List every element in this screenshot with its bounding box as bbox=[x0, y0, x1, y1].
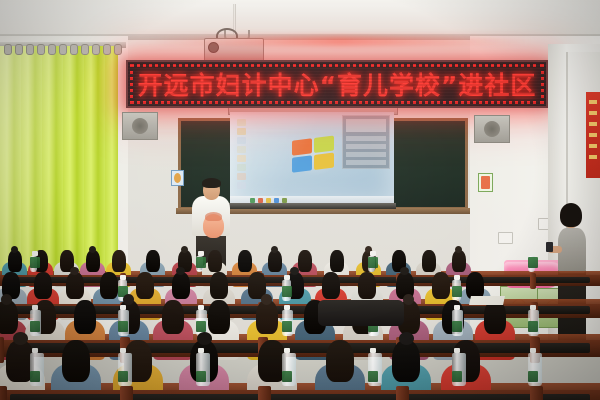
gadget-clock-icon bbox=[346, 119, 386, 132]
bottle-label bbox=[528, 371, 538, 382]
audience-hair bbox=[432, 272, 450, 299]
speaker-right bbox=[474, 115, 510, 143]
audience-hair-bun bbox=[403, 294, 414, 305]
bottle-label bbox=[118, 321, 128, 332]
audience-hair-bun bbox=[13, 332, 28, 345]
banner-ceiling-glow bbox=[150, 36, 530, 46]
bottle-label bbox=[196, 321, 206, 332]
bottle-label bbox=[118, 371, 128, 382]
desktop-icon bbox=[237, 137, 246, 144]
curtain-ring bbox=[103, 44, 111, 55]
desktop-icons bbox=[235, 116, 249, 188]
bottle-label bbox=[30, 321, 40, 332]
desktop-icon bbox=[237, 173, 246, 180]
audience-hair-bun bbox=[70, 267, 79, 275]
audience-hair bbox=[34, 272, 52, 299]
bottle-label bbox=[196, 257, 206, 268]
water-bottle bbox=[368, 353, 382, 386]
water-bottle bbox=[282, 310, 293, 336]
curtain-ring bbox=[59, 44, 67, 55]
curtain-ring bbox=[70, 44, 78, 55]
bottle-cap bbox=[120, 348, 126, 353]
bottle-label bbox=[282, 371, 292, 382]
water-bottle bbox=[118, 353, 132, 386]
water-bottle bbox=[282, 353, 296, 386]
curtain-ring bbox=[15, 44, 23, 55]
bottle-cap bbox=[530, 348, 536, 353]
audience-hair-bun bbox=[261, 294, 272, 305]
desktop-gadget-panel bbox=[342, 115, 390, 169]
bottle-cap bbox=[370, 251, 376, 256]
bottle-label bbox=[452, 321, 462, 332]
audience-hair-bun bbox=[400, 267, 409, 275]
desktop-icon bbox=[237, 119, 246, 126]
bottle-label bbox=[528, 257, 538, 268]
audience-hair-bun bbox=[290, 267, 299, 275]
audience-hair-bun bbox=[399, 332, 414, 345]
water-bottle bbox=[528, 310, 539, 336]
bench-post bbox=[530, 273, 536, 289]
audience-hair-bun bbox=[176, 267, 185, 275]
audience-hair bbox=[112, 250, 126, 272]
audience-hair bbox=[268, 250, 282, 272]
curtain-ring bbox=[37, 44, 45, 55]
bottle-label bbox=[368, 257, 378, 268]
audience-hair bbox=[322, 272, 340, 299]
banner-text: 开远市妇计中心“育儿学校”进社区 bbox=[128, 62, 546, 106]
bench-cushion bbox=[10, 343, 590, 353]
water-bottle bbox=[452, 310, 463, 336]
audience-hair-bun bbox=[11, 246, 18, 253]
bottle-label bbox=[452, 286, 462, 297]
standing-woman-top bbox=[558, 228, 586, 273]
desktop-icon bbox=[237, 128, 246, 135]
water-bottle bbox=[118, 310, 129, 336]
audience-hair bbox=[162, 300, 184, 334]
bottle-cap bbox=[370, 348, 376, 353]
audience-hair bbox=[208, 250, 222, 272]
curtain-backlight bbox=[0, 46, 118, 276]
audience-hair bbox=[452, 250, 466, 272]
windows-logo-icon bbox=[292, 135, 336, 174]
bottle-cap bbox=[198, 348, 204, 353]
speaker-left bbox=[122, 112, 158, 140]
audience-hair bbox=[330, 250, 344, 272]
audience-hair-bun bbox=[89, 246, 96, 253]
standing-woman-hair bbox=[560, 203, 582, 227]
bottle-cap bbox=[198, 251, 204, 256]
bottle-cap bbox=[530, 305, 536, 310]
water-bottle bbox=[196, 353, 210, 386]
bottle-cap bbox=[120, 305, 126, 310]
audience-hair bbox=[86, 250, 100, 272]
audience-hair-bun bbox=[181, 246, 188, 253]
curtain-ring bbox=[26, 44, 34, 55]
water-bottle bbox=[528, 256, 535, 272]
speaker-cone-icon bbox=[484, 121, 500, 137]
bottle-cap bbox=[198, 305, 204, 310]
audience-hair-bun bbox=[271, 246, 278, 253]
bench-cushion bbox=[10, 394, 590, 400]
speaker-cone-icon bbox=[132, 118, 148, 134]
curtain-ring bbox=[81, 44, 89, 55]
audience-hair bbox=[172, 272, 190, 299]
bottle-cap bbox=[32, 305, 38, 310]
bench-post bbox=[258, 386, 271, 400]
audience-hair bbox=[484, 300, 506, 334]
curtain-ring bbox=[4, 44, 12, 55]
led-banner: 开远市妇计中心“育儿学校”进社区 bbox=[126, 60, 548, 108]
water-bottle bbox=[30, 353, 44, 386]
audience-hair bbox=[210, 272, 228, 299]
bench-post bbox=[0, 337, 4, 363]
audience-hair bbox=[326, 340, 354, 382]
audience-hair bbox=[74, 300, 96, 334]
bottle-label bbox=[528, 321, 538, 332]
curtain-ring bbox=[48, 44, 56, 55]
papers bbox=[469, 296, 505, 305]
blue-wall-sign bbox=[171, 170, 184, 186]
bottle-cap bbox=[454, 305, 460, 310]
bottle-cap bbox=[530, 251, 536, 256]
screen-bottom-bar bbox=[228, 203, 396, 209]
bottle-cap bbox=[454, 275, 460, 280]
bottle-label bbox=[368, 371, 378, 382]
audience-hair-bun bbox=[455, 246, 462, 253]
bottle-cap bbox=[284, 348, 290, 353]
desktop-icon bbox=[237, 164, 246, 171]
audience-hair bbox=[298, 250, 312, 272]
audience-hair bbox=[466, 272, 484, 299]
bench-post bbox=[0, 386, 7, 400]
audience-hair bbox=[208, 300, 230, 334]
audience-hair-bun bbox=[123, 294, 134, 305]
audience-hair bbox=[422, 250, 436, 272]
bottle-cap bbox=[32, 251, 38, 256]
doll-hair bbox=[205, 212, 222, 221]
bottle-cap bbox=[284, 275, 290, 280]
bottle-cap bbox=[454, 348, 460, 353]
projection-screen bbox=[230, 112, 394, 204]
water-bottle bbox=[30, 256, 37, 272]
red-poster bbox=[586, 92, 600, 178]
bottle-label bbox=[196, 371, 206, 382]
handbag bbox=[318, 300, 404, 326]
water-bottle bbox=[528, 353, 542, 386]
bottle-cap bbox=[284, 305, 290, 310]
desktop-icon bbox=[237, 146, 246, 153]
water-bottle bbox=[196, 256, 203, 272]
audience-hair bbox=[146, 250, 160, 272]
audience-hair-bun bbox=[197, 332, 212, 345]
bottle-label bbox=[282, 286, 292, 297]
water-bottle bbox=[452, 353, 466, 386]
audience-hair bbox=[256, 300, 278, 334]
desktop-icon bbox=[237, 155, 246, 162]
audience-hair bbox=[392, 340, 420, 382]
audience-hair bbox=[100, 272, 118, 299]
photo-scene: 开远市妇计中心“育儿学校”进社区 bbox=[0, 0, 600, 400]
curtain-ring bbox=[92, 44, 100, 55]
bottle-label bbox=[282, 321, 292, 332]
water-bottle bbox=[282, 280, 291, 301]
bottle-label bbox=[30, 371, 40, 382]
audience-hair bbox=[136, 272, 154, 299]
audience-hair-bun bbox=[1, 294, 12, 305]
water-bottle bbox=[30, 310, 41, 336]
curtain-ring bbox=[114, 44, 122, 55]
audience-hair bbox=[238, 250, 252, 272]
bottle-label bbox=[452, 371, 462, 382]
bottle-cap bbox=[120, 275, 126, 280]
presenter-hair bbox=[202, 178, 221, 188]
water-bottle bbox=[452, 280, 461, 301]
mobile-phone bbox=[546, 242, 553, 252]
bench-post bbox=[120, 386, 133, 400]
desktop-icon bbox=[237, 182, 246, 189]
water-bottle bbox=[368, 256, 375, 272]
audience-hair bbox=[8, 250, 22, 272]
audience-hair bbox=[0, 300, 18, 334]
bottle-label bbox=[30, 257, 40, 268]
bottle-cap bbox=[32, 348, 38, 353]
no-smoking-sign bbox=[478, 173, 493, 192]
audience-hair bbox=[66, 272, 84, 299]
wall-outlet bbox=[498, 232, 513, 244]
audience-hair bbox=[62, 340, 90, 382]
bench-post bbox=[396, 386, 409, 400]
audience-hair bbox=[358, 272, 376, 299]
bench-post bbox=[530, 386, 543, 400]
